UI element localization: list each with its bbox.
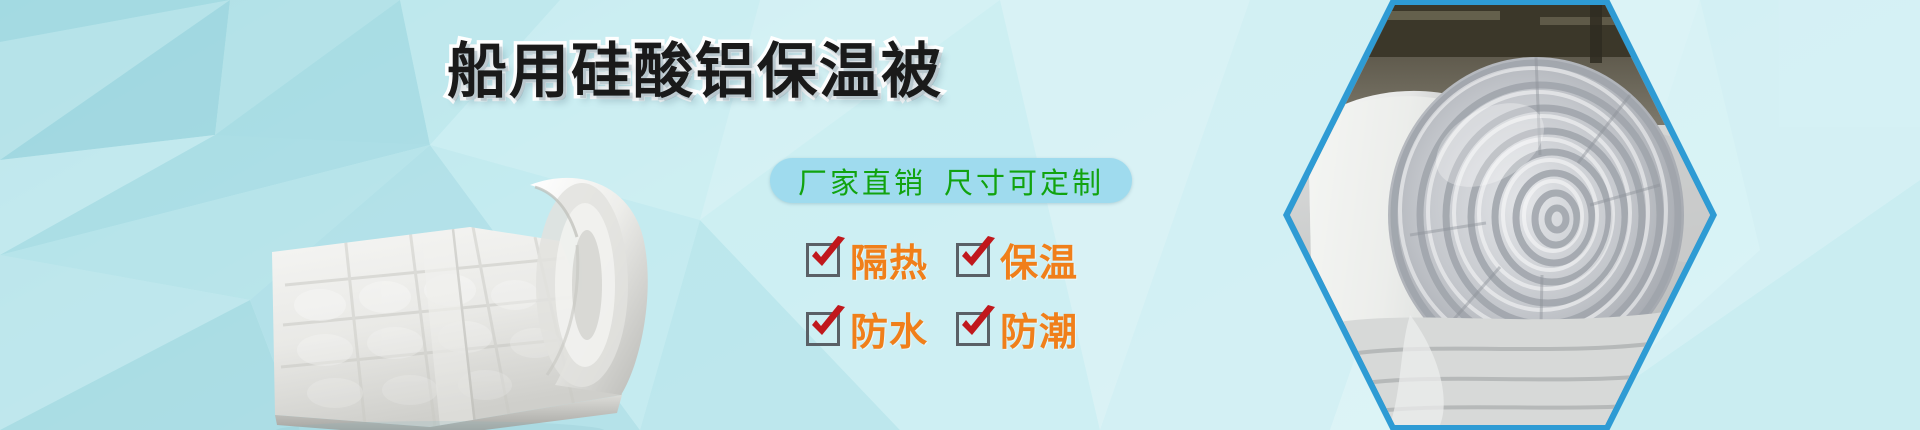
checkmark-icon — [806, 243, 840, 277]
feature-list: 隔热 保温 防水 防潮 — [806, 232, 1078, 356]
feature-item-0: 隔热 — [806, 232, 928, 287]
hexagon-photo-clip — [1290, 5, 1710, 425]
selling-point-badge: 厂家直销 尺寸可定制 — [770, 158, 1132, 203]
banner-title: 船用硅酸铝保温被 — [447, 38, 943, 106]
feature-item-3: 防潮 — [956, 301, 1078, 356]
product-banner: 船用硅酸铝保温被 厂家直销 尺寸可定制 隔热 保温 防水 — [0, 0, 1920, 430]
badge-text-custom-size: 尺寸可定制 — [944, 160, 1104, 202]
feature-item-1: 保温 — [956, 232, 1078, 287]
left-product-photo — [225, 145, 655, 430]
feature-label-2: 防水 — [850, 301, 928, 356]
hexagon-product-photo — [1283, 0, 1717, 430]
checkmark-icon — [956, 312, 990, 346]
badge-text-factory-direct: 厂家直销 — [798, 160, 926, 202]
feature-item-2: 防水 — [806, 301, 928, 356]
checkmark-icon — [806, 312, 840, 346]
feature-label-3: 防潮 — [1000, 301, 1078, 356]
roll-photo — [1290, 5, 1710, 425]
feature-label-1: 保温 — [1000, 232, 1078, 287]
feature-label-0: 隔热 — [850, 232, 928, 287]
checkmark-icon — [956, 243, 990, 277]
